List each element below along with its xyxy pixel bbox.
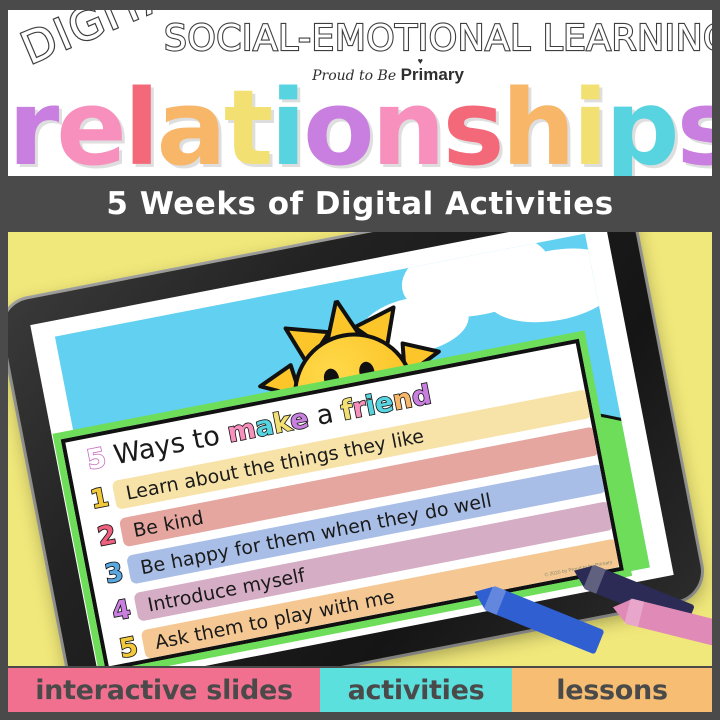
subtitle-banner: 5 Weeks of Digital Activities [8,178,712,230]
footer-tab[interactable]: activities [320,668,512,712]
header-card: DIGITAL SOCIAL-EMOTIONAL LEARNING Proud … [8,10,712,176]
slide-title-plain: a [305,397,344,434]
tablet-device: 🌿 🌿 5 Ways to make a friend 1Learn about… [8,232,706,666]
sel-subtitle: SOCIAL-EMOTIONAL LEARNING [164,18,712,59]
wordmark-letter: i [573,76,606,176]
wordmark-letter: s [443,76,502,176]
wordmark-letter: a [157,76,224,176]
wordmark-letter: i [270,76,303,176]
wordmark-letter: e [56,76,124,176]
wordmark-relationships: relationships [8,76,712,176]
plant-icon: 🌿 [502,635,527,654]
wordmark-letter: r [8,76,56,176]
footer-tab[interactable]: interactive slides [8,668,320,712]
poster-root: DIGITAL SOCIAL-EMOTIONAL LEARNING Proud … [0,0,720,720]
wordmark-letter: l [124,76,157,176]
wordmark-letter: p [605,76,676,176]
product-photo: 🌿 🌿 5 Ways to make a friend 1Learn about… [8,232,712,666]
tablet-screen: 🌿 🌿 5 Ways to make a friend 1Learn about… [30,232,673,666]
footer-tabs: interactive slidesactivitieslessons [8,668,712,712]
subtitle-label: 5 Weeks of Digital Activities [106,186,613,222]
wordmark-letter: s [677,76,712,176]
wordmark-letter: n [372,76,443,176]
wordmark-letter: h [501,76,572,176]
footer-tab[interactable]: lessons [512,668,712,712]
wordmark-letter: o [303,76,371,176]
wordmark-letter: t [224,76,271,176]
heart-icon: ♥ [418,56,423,66]
